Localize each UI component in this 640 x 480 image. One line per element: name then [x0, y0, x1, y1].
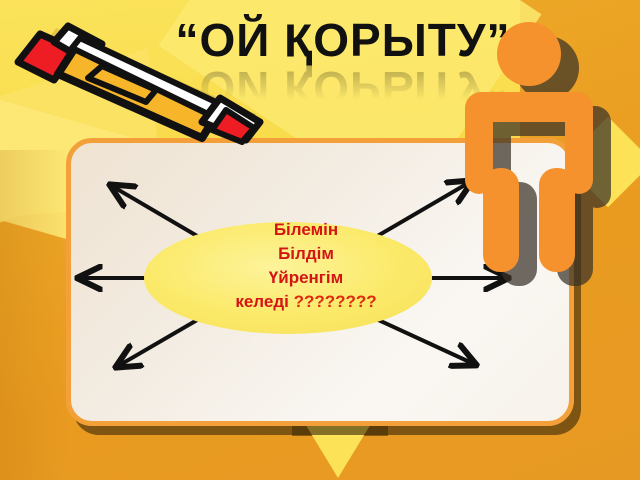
arrow-down-right [374, 318, 474, 364]
center-ellipse [144, 222, 432, 334]
left-edge-shadow [0, 150, 70, 480]
yellow-triangle-icon [304, 422, 372, 478]
person-icon [455, 22, 640, 292]
pencil-icon [6, 18, 278, 146]
person-head [497, 22, 561, 86]
arrow-down-left [118, 316, 204, 366]
person-leg-left [483, 168, 519, 272]
arrow-up-left [112, 186, 204, 240]
slide-canvas: “ОЙ ҚОРЫТУ” “ОЙ ҚОРЫТУ” [0, 0, 640, 480]
person-leg-right [539, 168, 575, 272]
person-torso [465, 92, 593, 194]
